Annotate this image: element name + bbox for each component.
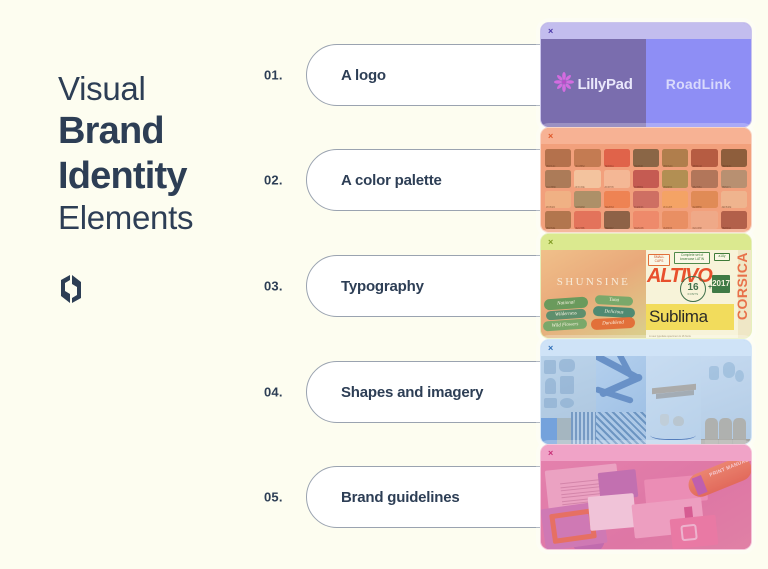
- swatch-hex-label: #E3735B: [575, 227, 584, 230]
- color-swatch: #E08B56: [691, 191, 717, 209]
- pill-label: Shapes and imagery: [341, 384, 483, 401]
- swatch-hex-label: #B2765A: [692, 186, 701, 189]
- label-sample: Tuna: [595, 295, 633, 306]
- swatch-hex-label: #F4A365: [663, 206, 672, 209]
- swatch-hex-label: #8A6646: [634, 165, 643, 168]
- color-swatch: #E3735B: [574, 211, 600, 229]
- color-swatch: #EFA988: [691, 211, 717, 229]
- color-swatch: #B2764E: [545, 211, 571, 229]
- color-swatch: #B89071: [721, 170, 747, 188]
- title-line-1: Visual: [58, 70, 258, 109]
- close-icon[interactable]: ×: [548, 27, 553, 36]
- color-swatch: #F3C39E: [574, 170, 600, 188]
- logo-sample-lillypad: LillyPad: [541, 39, 646, 128]
- color-swatch: #EFB48E: [721, 191, 747, 209]
- color-swatch: #CE6F63: [633, 191, 659, 209]
- label-sample: Wild Flowers: [543, 318, 588, 331]
- flower-icon: [554, 72, 574, 97]
- row-number: 02.: [264, 173, 283, 188]
- card-color-palette[interactable]: × #B4714C#C47B52#E0634A#8A6646#B07E4C#B6…: [540, 127, 752, 233]
- card-body: LillyPad RoadLink: [541, 39, 751, 128]
- color-swatch: #8E6247: [604, 211, 630, 229]
- swatch-hex-label: #AD9068: [575, 206, 584, 209]
- swatch-hex-label: #B2764E: [546, 227, 555, 230]
- slide-canvas: Visual Brand Identity Elements 01. A log…: [0, 0, 768, 569]
- swatch-hex-label: #EFB48E: [722, 206, 732, 209]
- color-swatch: #B07E4C: [662, 149, 688, 167]
- list-item: 03. Typography × SHUNSINE National Wilde…: [264, 233, 760, 339]
- swatch-hex-label: #B65C42: [692, 165, 701, 168]
- title-line-4: Elements: [58, 199, 258, 238]
- card-logo[interactable]: ×: [540, 22, 752, 128]
- font-count-number: 16: [687, 283, 698, 293]
- swatch-hex-label: #C47B52: [575, 165, 584, 168]
- color-swatch: #B28F53: [662, 170, 688, 188]
- vertical-word: CORSICA: [734, 252, 750, 320]
- swatch-grid: #B4714C#C47B52#E0634A#8A6646#B07E4C#B65C…: [545, 149, 747, 229]
- close-icon[interactable]: ×: [548, 449, 553, 458]
- card-titlebar: ×: [541, 23, 751, 39]
- row-number: 05.: [264, 490, 283, 505]
- moodboard-panel-objects: [541, 356, 596, 445]
- swatch-hex-label: #B2604A: [722, 227, 731, 230]
- swatch-hex-label: #EE8A6B: [634, 227, 644, 230]
- swatch-hex-label: #F3C39E: [575, 186, 584, 189]
- color-swatch: #EE8A6B: [633, 211, 659, 229]
- mockup-print-tube: PRINT MANUAL: [685, 461, 751, 500]
- swatch-hex-label: #F4B795: [605, 186, 614, 189]
- list-item: 04. Shapes and imagery ×: [264, 339, 760, 445]
- color-swatch: #E98F63: [662, 211, 688, 229]
- swatch-hex-label: #E08B56: [692, 206, 701, 209]
- swatch-hex-label: #B07E4C: [663, 165, 673, 168]
- color-swatch: #8A6646: [633, 149, 659, 167]
- pill-label: A logo: [341, 67, 386, 84]
- row-number: 03.: [264, 279, 283, 294]
- swatch-hex-label: #E0634A: [605, 165, 614, 168]
- swatch-hex-label: #B4714C: [546, 165, 555, 168]
- swatch-hex-label: #8E6247: [605, 227, 614, 230]
- swatch-hex-label: #AC7B58: [546, 186, 556, 189]
- body-specimen-band: Sublima: [646, 304, 734, 330]
- card-body: PRINT MANUAL: [541, 461, 751, 550]
- color-swatch: #C47B52: [574, 149, 600, 167]
- close-icon[interactable]: ×: [548, 132, 553, 141]
- moodboard-panel-interior: [646, 356, 701, 445]
- card-body: SHUNSINE National Wilderness Wild Flower…: [541, 250, 751, 339]
- font-count-label: FONTS: [688, 293, 699, 296]
- swatch-hex-label: #F0B184: [546, 206, 555, 209]
- row-number: 01.: [264, 68, 283, 83]
- list-item: 05. Brand guidelines ×: [264, 444, 760, 550]
- swatch-hex-label: #B89071: [722, 186, 731, 189]
- card-titlebar: ×: [541, 234, 751, 250]
- card-body: #B4714C#C47B52#E0634A#8A6646#B07E4C#B65C…: [541, 144, 751, 233]
- logo-wordmark-roadlink: RoadLink: [666, 76, 731, 92]
- poster-title: SHUNSINE: [557, 276, 631, 288]
- left-panel: Visual Brand Identity Elements: [58, 70, 258, 304]
- color-swatch: #B2604A: [721, 211, 747, 229]
- color-swatch: #B4714C: [545, 149, 571, 167]
- color-swatch: #B2765A: [691, 170, 717, 188]
- swatch-hex-label: #EFA988: [692, 227, 701, 230]
- row-number: 04.: [264, 385, 283, 400]
- logo-wordmark-lillypad: LillyPad: [577, 76, 632, 93]
- color-swatch: #8E5E3C: [721, 149, 747, 167]
- pill-label: Typography: [341, 278, 424, 295]
- font-count-badge: 16 FONTS: [680, 276, 706, 302]
- color-swatch: #F4B795: [604, 170, 630, 188]
- swatch-hex-label: #8E5E3C: [722, 165, 732, 168]
- moodboard-panel-dining: [701, 356, 751, 445]
- mockup-notebook: [670, 515, 719, 550]
- color-swatch: #F0B184: [545, 191, 571, 209]
- card-titlebar: ×: [541, 445, 751, 461]
- color-swatch: #B65C42: [691, 149, 717, 167]
- mockup-business-card: [588, 493, 637, 531]
- label-sample: Durablend: [591, 317, 636, 330]
- card-titlebar: ×: [541, 128, 751, 144]
- swatch-hex-label: #B28F53: [663, 186, 672, 189]
- title-line-2: Brand: [58, 109, 258, 154]
- typography-poster: SHUNSINE National Wilderness Wild Flower…: [541, 250, 646, 339]
- close-icon[interactable]: ×: [548, 344, 553, 353]
- pill-label: Brand guidelines: [341, 489, 460, 506]
- card-shapes-imagery[interactable]: ×: [540, 339, 752, 445]
- color-swatch: #AD9068: [574, 191, 600, 209]
- list-item: 02. A color palette × #B4714C#C47B52#E06…: [264, 127, 760, 233]
- color-swatch: #E0634A: [604, 149, 630, 167]
- list-item: 01. A logo ×: [264, 22, 760, 128]
- swatch-hex-label: #EE8353: [605, 206, 614, 209]
- swatch-hex-label: #C55B52: [634, 186, 643, 189]
- swatch-hex-label: #CE6F63: [634, 206, 643, 209]
- color-swatch: #F4A365: [662, 191, 688, 209]
- color-swatch: #C55B52: [633, 170, 659, 188]
- pill-label: A color palette: [341, 172, 442, 189]
- page-title: Visual Brand Identity Elements: [58, 70, 258, 238]
- color-swatch: #AC7B58: [545, 170, 571, 188]
- title-line-3: Identity: [58, 154, 258, 199]
- specimen-tag: a18y: [714, 253, 730, 261]
- specimen-tag: Complete set of lowercase LATIN: [674, 252, 710, 264]
- specimen-tag: SMALL CAPS: [648, 254, 670, 266]
- swatch-hex-label: #E98F63: [663, 227, 672, 230]
- card-body: [541, 356, 751, 445]
- typography-specimen-sheet: SMALL CAPS Complete set of lowercase LAT…: [646, 250, 751, 339]
- close-icon[interactable]: ×: [548, 238, 553, 247]
- year-badge: 2017: [712, 275, 730, 293]
- card-brand-guidelines[interactable]: × PRINT MANUAL: [540, 444, 752, 550]
- card-titlebar: ×: [541, 340, 751, 356]
- card-typography[interactable]: × SHUNSINE National Wilderness Wild Flow…: [540, 233, 752, 339]
- moodboard-panel-coral: [596, 356, 646, 445]
- tube-label: PRINT MANUAL: [709, 461, 750, 479]
- color-swatch: #EE8353: [604, 191, 630, 209]
- body-word: Sublima: [649, 307, 708, 327]
- brand-logo-icon: [58, 274, 84, 304]
- logo-sample-roadlink: RoadLink: [646, 39, 751, 128]
- specimen-footnote: A new typeface specimen & 16 fonts: [649, 335, 691, 338]
